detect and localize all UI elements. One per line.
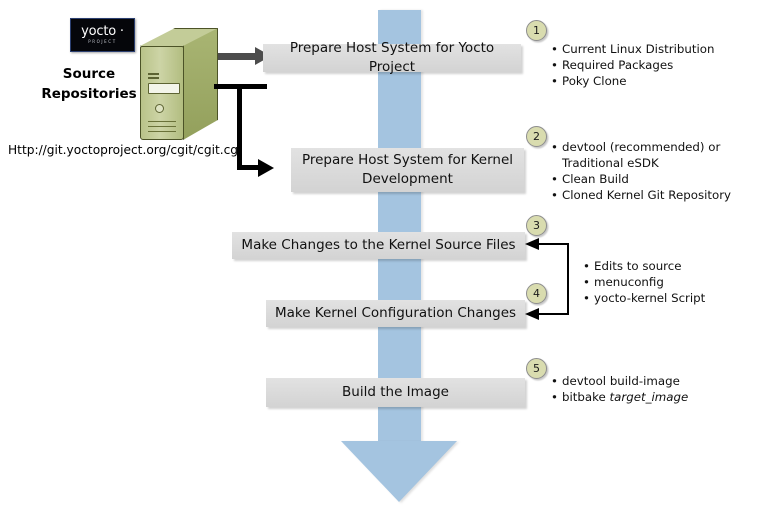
server-vent-2 — [148, 126, 176, 127]
main-flow-arrow-head — [341, 441, 457, 502]
step1-bullet-list: Current Linux Distribution Required Pack… — [551, 41, 756, 89]
server-drive-slot-icon — [148, 83, 180, 94]
process-box-make-kernel-source-changes[interactable]: Make Changes to the Kernel Source Files — [232, 232, 525, 259]
process-box-make-kernel-config-changes[interactable]: Make Kernel Configuration Changes — [266, 300, 525, 327]
server-dash-2 — [148, 77, 159, 79]
list-item: Poky Clone — [551, 73, 756, 89]
yocto-logo-subtext: PROJECT — [88, 39, 116, 45]
bracket-connector-vertical — [567, 243, 569, 315]
process-box-build-the-image[interactable]: Build the Image — [266, 378, 525, 407]
bracket-arrowhead-step3 — [525, 238, 539, 250]
list-item: Current Linux Distribution — [551, 41, 756, 57]
bracket-connector-to-step3 — [538, 243, 569, 245]
list-item: Required Packages — [551, 57, 756, 73]
yocto-project-logo: yocto · PROJECT — [70, 18, 135, 52]
list-item: menuconfig — [583, 274, 763, 290]
process-box-prepare-host-yocto[interactable]: Prepare Host System for Yocto Project — [263, 44, 521, 72]
step-badge-5: 5 — [526, 358, 547, 379]
list-item: devtool (recommended) or Traditional eSD… — [551, 139, 751, 171]
step2-bullet-list: devtool (recommended) or Traditional eSD… — [551, 139, 751, 203]
connector-server-to-step2-segment-2 — [237, 84, 242, 170]
server-power-button-icon — [155, 104, 164, 113]
bracket-arrowhead-step4 — [525, 308, 539, 320]
source-label-line-2: Repositories — [34, 84, 144, 104]
source-repositories-label: Source Repositories — [34, 64, 144, 104]
process-box-prepare-host-kernel[interactable]: Prepare Host System for Kernel Developme… — [291, 148, 524, 192]
bitbake-command-prefix: bitbake — [562, 390, 610, 404]
step-badge-4: 4 — [526, 283, 547, 304]
source-repository-url: Http://git.yoctoproject.org/cgit/cgit.cg… — [8, 143, 241, 157]
server-front-face — [140, 46, 184, 140]
step5-bullet-list: devtool build-image bitbake target_image — [551, 373, 751, 405]
step34-shared-bullet-list: Edits to source menuconfig yocto-kernel … — [583, 258, 763, 306]
list-item: bitbake target_image — [551, 389, 751, 405]
step-badge-2: 2 — [526, 126, 547, 147]
list-item: yocto-kernel Script — [583, 290, 763, 306]
yocto-logo-wordmark: yocto · — [81, 25, 124, 38]
list-item: Clean Build — [551, 171, 751, 187]
server-vent-3 — [148, 131, 176, 132]
bitbake-target-image-arg: target_image — [610, 390, 689, 404]
list-item: devtool build-image — [551, 373, 751, 389]
list-item: Cloned Kernel Git Repository — [551, 187, 751, 203]
source-label-line-1: Source — [34, 64, 144, 84]
bracket-connector-to-step4 — [538, 313, 569, 315]
server-vent-1 — [148, 121, 176, 122]
server-icon — [140, 28, 218, 140]
step-badge-3: 3 — [526, 215, 547, 236]
server-side-face — [183, 28, 218, 140]
server-dash-1 — [148, 73, 159, 75]
connector-server-to-step2-arrowhead — [258, 159, 274, 177]
step-badge-1: 1 — [526, 20, 547, 41]
list-item: Edits to source — [583, 258, 763, 274]
